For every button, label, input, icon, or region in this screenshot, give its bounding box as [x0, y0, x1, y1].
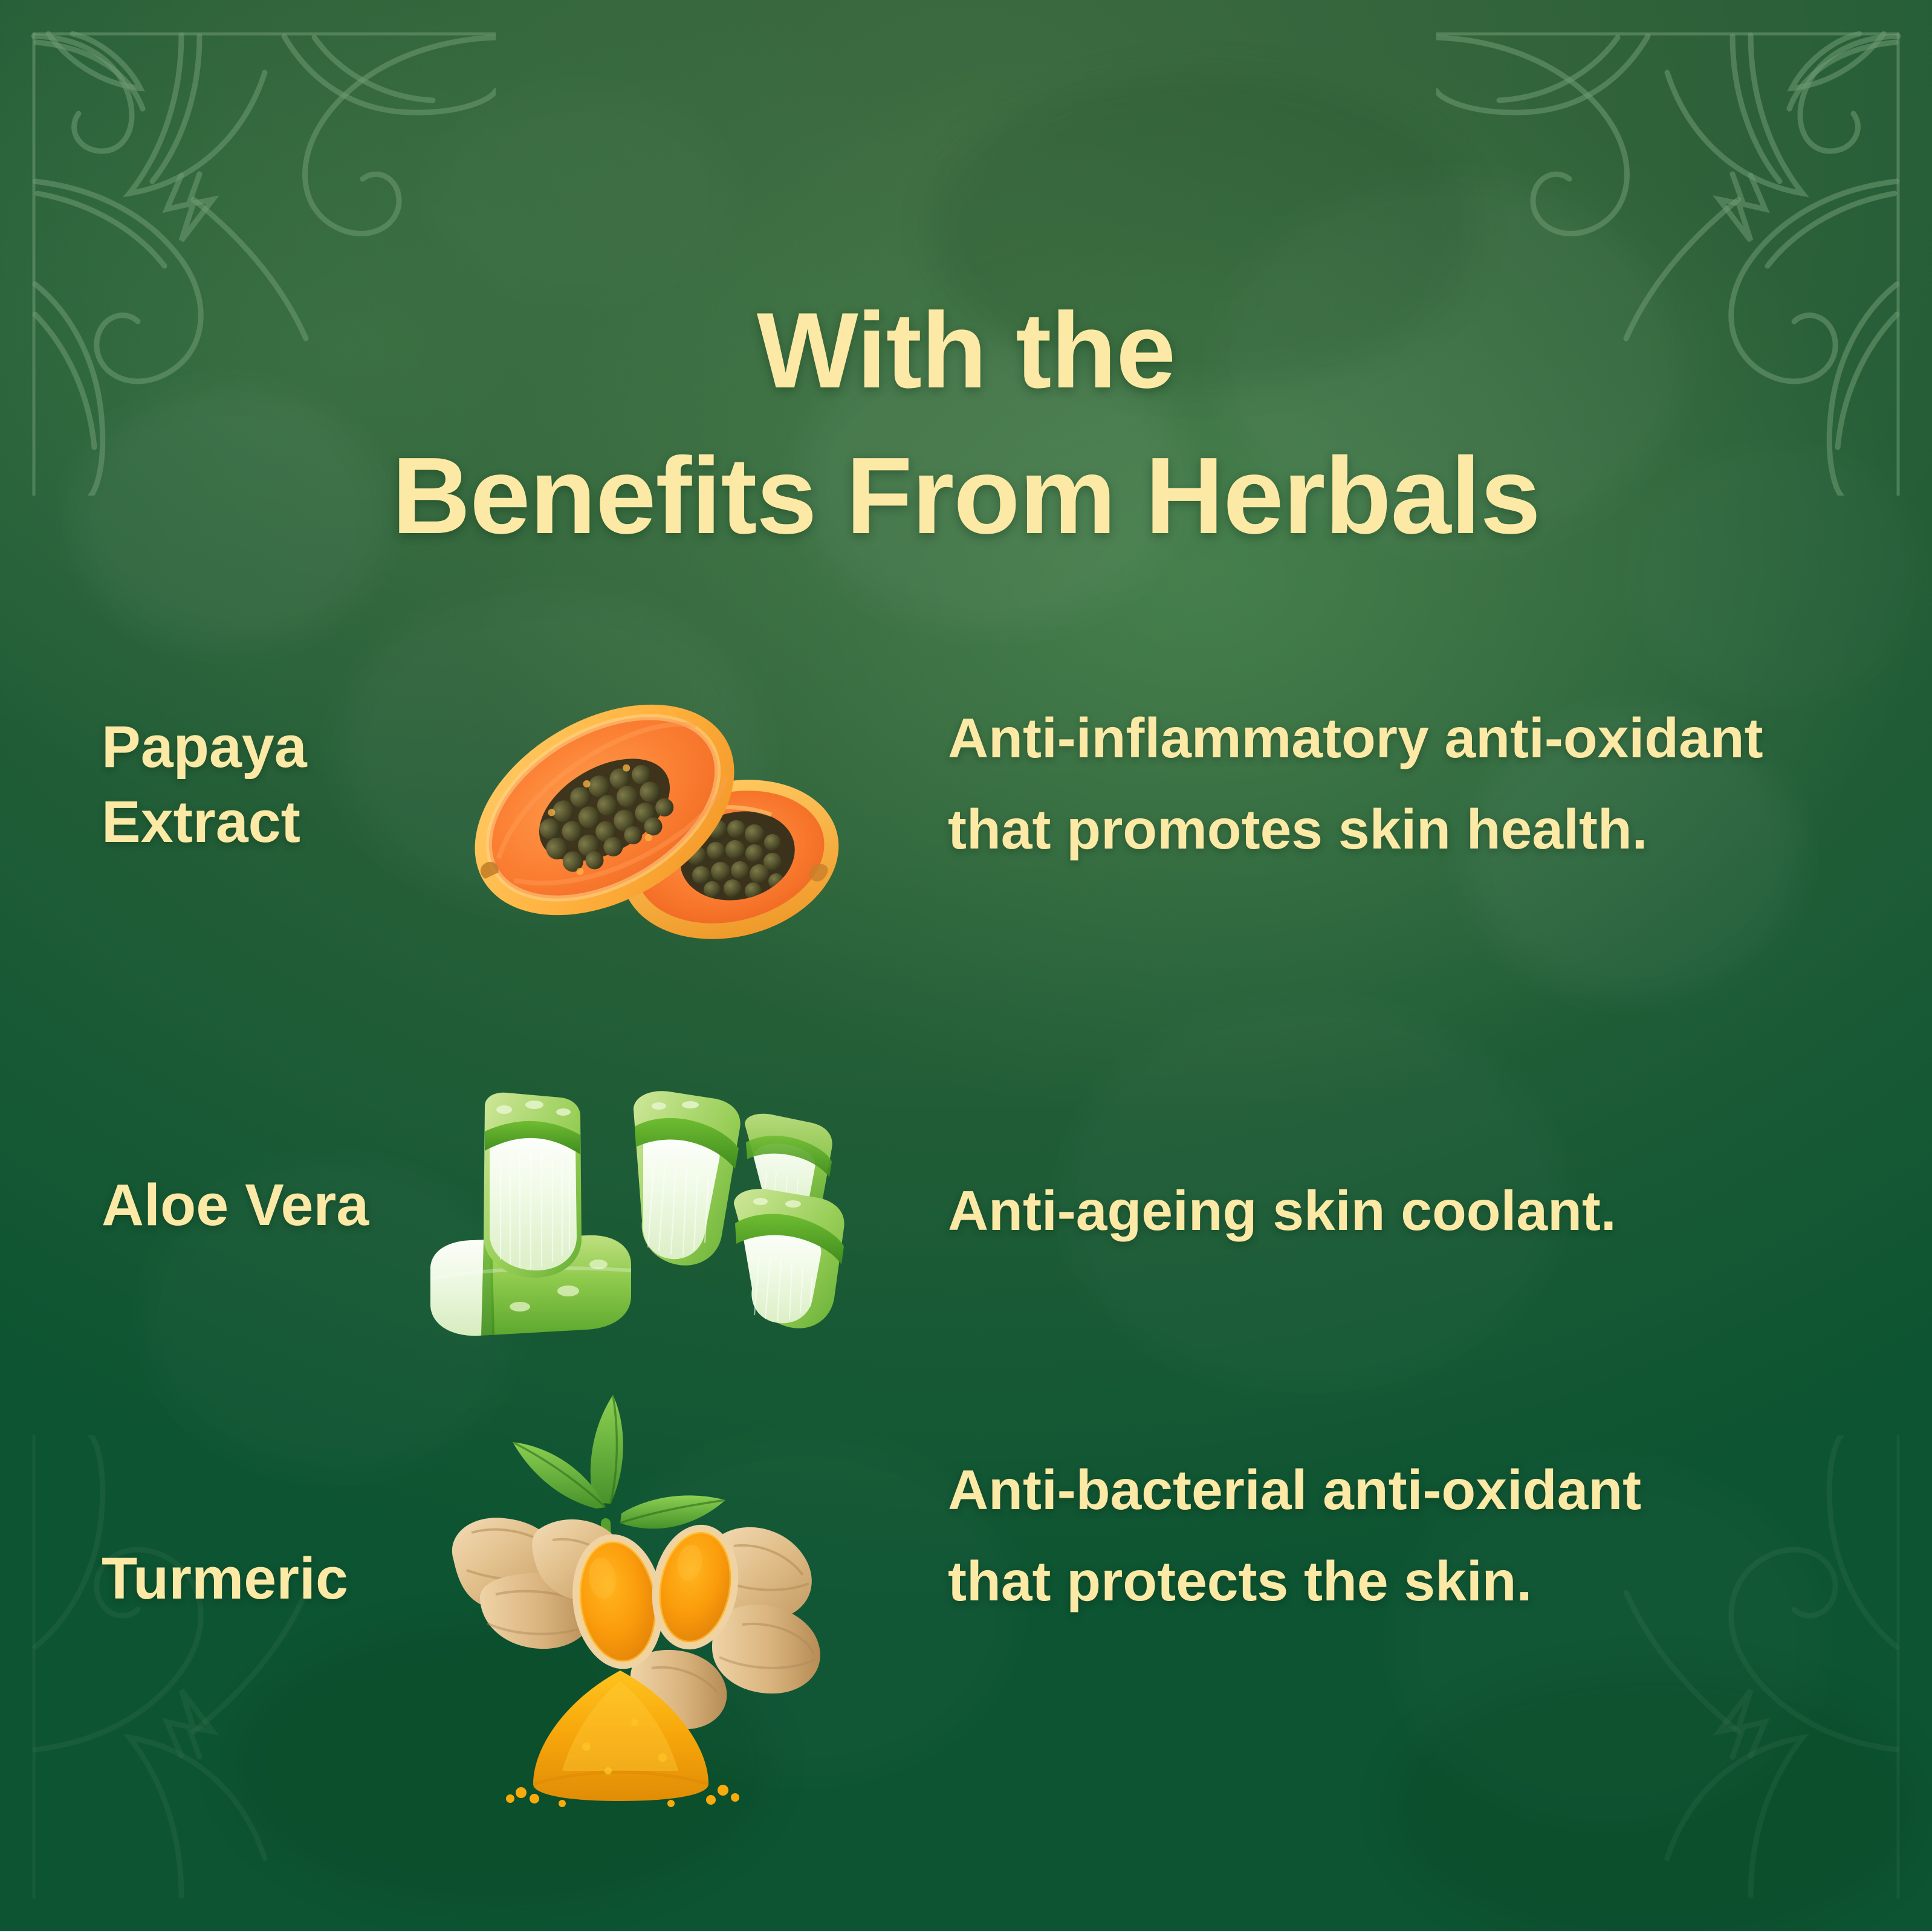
turmeric-image [381, 1384, 877, 1807]
ingredient-desc-line-1: Anti-ageing skin coolant. [948, 1165, 1867, 1257]
ingredient-label-turmeric: Turmeric [102, 1541, 428, 1616]
ingredient-row-aloe-vera: Aloe Vera [0, 1100, 1932, 1354]
ingredient-label-papaya: Papaya Extract [102, 710, 428, 859]
aloe-vera-image [406, 1088, 914, 1366]
ingredient-desc-line-2: that promotes skin health. [948, 784, 1867, 875]
title-line-2: Benefits From Herbals [0, 442, 1932, 551]
ingredient-description-turmeric: Anti-bacterial anti-oxidant that protect… [948, 1444, 1867, 1626]
ingredient-description-papaya: Anti-inflammatory anti-oxidant that prom… [948, 693, 1867, 875]
ingredient-desc-line-1: Anti-bacterial anti-oxidant [948, 1444, 1867, 1536]
title-line-1: With the [757, 290, 1175, 410]
ingredient-row-papaya: Papaya Extract [0, 701, 1932, 1015]
ingredient-row-turmeric: Turmeric [0, 1463, 1932, 1801]
ingredient-label-line-1: Aloe Vera [102, 1168, 428, 1243]
ingredient-desc-line-1: Anti-inflammatory anti-oxidant [948, 693, 1867, 784]
papaya-image [423, 641, 840, 979]
ingredient-label-aloe-vera: Aloe Vera [102, 1168, 428, 1243]
herbal-benefits-poster: With the Benefits From Herbals Papaya Ex… [0, 0, 1932, 1931]
ingredient-label-line-1: Turmeric [102, 1541, 428, 1616]
ingredient-label-line-1: Papaya [102, 710, 428, 784]
ingredient-label-line-2: Extract [102, 784, 428, 859]
ingredient-desc-line-2: that protects the skin. [948, 1536, 1867, 1627]
ingredient-description-aloe-vera: Anti-ageing skin coolant. [948, 1165, 1867, 1257]
page-title: With the Benefits From Herbals [0, 297, 1932, 551]
